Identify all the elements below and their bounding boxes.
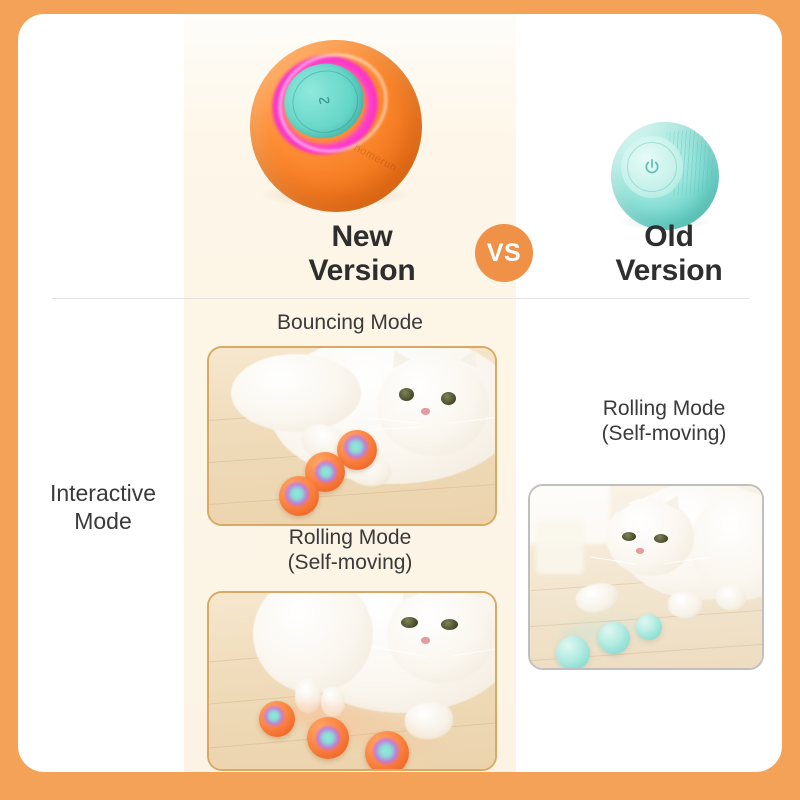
toy-ball (598, 622, 630, 654)
toy-ball (279, 476, 319, 516)
caption-rolling-mode-new: Rolling Mode (Self-moving) (202, 525, 498, 575)
white-content-panel: homerun ∿ New (18, 14, 782, 772)
new-version-title-line2: Version (256, 254, 468, 288)
photo-bouncing-mode (207, 346, 497, 526)
toy-led-glow (264, 706, 284, 726)
cat-eye-right (441, 392, 456, 405)
new-version-title-line1: New (256, 220, 468, 254)
photo-rolling-mode-new (207, 591, 497, 771)
vs-label: VS (487, 239, 521, 268)
cat-nose (421, 408, 430, 415)
toy-led-glow (373, 738, 399, 764)
toy-led-glow (285, 482, 309, 506)
cat-eye-right (441, 619, 458, 630)
interactive-mode-label-line2: Mode (20, 507, 186, 535)
caption-rolling-mode-old-line1: Rolling Mode (546, 396, 782, 421)
cat-eye-left (399, 388, 414, 401)
product-comparison-poster: homerun ∿ New (0, 0, 800, 800)
vs-badge: VS (475, 224, 533, 282)
caption-rolling-mode-old: Rolling Mode (Self-moving) (546, 396, 782, 446)
caption-rolling-mode-old-line2: (Self-moving) (546, 421, 782, 446)
toy-ball (307, 717, 349, 759)
cat-paw (668, 592, 702, 618)
cat-head (377, 356, 489, 456)
cat-paw (716, 586, 746, 610)
toy-led-glow (315, 461, 337, 483)
cat-shoulder (231, 354, 361, 432)
old-version-title-line1: Old (574, 220, 764, 254)
interactive-mode-label-line1: Interactive (20, 479, 186, 507)
caption-rolling-mode-new-line2: (Self-moving) (202, 550, 498, 575)
old-version-title-line2: Version (574, 254, 764, 288)
new-version-title: New Version (256, 220, 468, 288)
cat-nose (421, 637, 430, 644)
interactive-mode-label: Interactive Mode (20, 479, 186, 535)
toy-ball (259, 701, 295, 737)
toy-ball (636, 614, 662, 640)
old-version-title: Old Version (574, 220, 764, 288)
cat-eye-left (401, 617, 418, 628)
old-version-ball-image (611, 122, 719, 230)
wall-panel (536, 520, 584, 574)
cat-head (387, 591, 495, 683)
caption-bouncing-mode: Bouncing Mode (202, 310, 498, 335)
toy-ball (556, 636, 590, 670)
photo-rolling-mode-old (528, 484, 764, 670)
caption-rolling-mode-new-line1: Rolling Mode (202, 525, 498, 550)
ball-top-cap (621, 136, 683, 198)
new-version-ball-image: homerun ∿ (250, 40, 422, 212)
section-divider (52, 298, 750, 299)
cat-nose (636, 548, 644, 554)
cat-eye-left (622, 532, 636, 541)
toy-led-glow (316, 726, 340, 750)
toy-ball (365, 731, 409, 771)
toy-led-glow (344, 435, 368, 459)
caption-bouncing-mode-line1: Bouncing Mode (202, 310, 498, 335)
brand-mark: homerun (352, 142, 399, 175)
power-icon (643, 158, 662, 177)
cat-eye-right (654, 534, 668, 543)
